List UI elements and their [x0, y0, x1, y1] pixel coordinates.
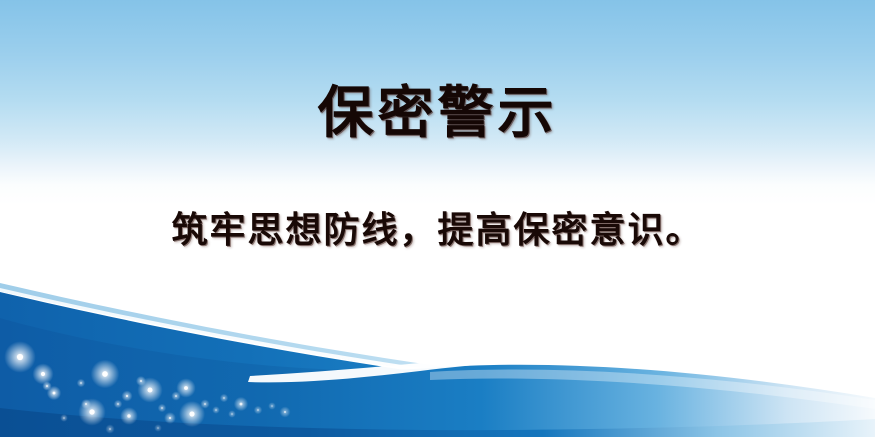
- page-title: 保密警示: [0, 82, 875, 146]
- poster-subtitle: 筑牢思想防线，提高保密意识。: [0, 208, 875, 254]
- confidentiality-warning-poster: 保密警示 筑牢思想防线，提高保密意识。: [0, 0, 875, 437]
- poster-text-layer: 保密警示 筑牢思想防线，提高保密意识。: [0, 0, 875, 437]
